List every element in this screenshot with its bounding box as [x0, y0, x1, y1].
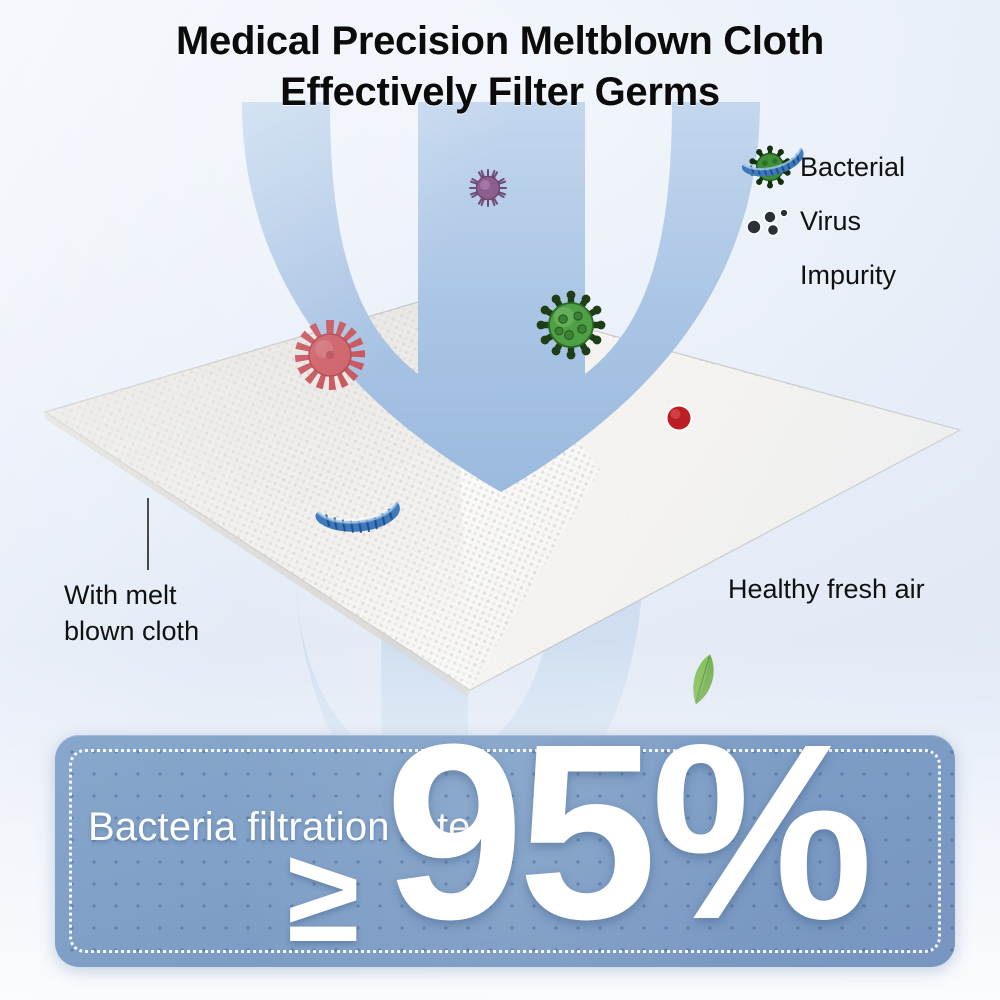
- legend-item-impurity: Impurity: [740, 248, 990, 302]
- legend-blue-bacillus-sample: [728, 132, 818, 188]
- caption-left-line-2: blown cloth: [64, 614, 199, 650]
- germ-red-dot: [666, 405, 693, 432]
- filtration-rate-banner: Bacteria filtration rate ≥ 95%: [55, 735, 955, 967]
- title-line-1: Medical Precision Meltblown Cloth: [176, 19, 824, 63]
- caption-left-line-1: With melt: [64, 578, 199, 614]
- greater-equal-symbol: ≥: [287, 830, 359, 962]
- infographic-canvas: Medical Precision Meltblown Cloth Effect…: [0, 0, 1000, 1000]
- page-title: Medical Precision Meltblown Cloth Effect…: [0, 16, 1000, 118]
- caption-healthy-fresh-air: Healthy fresh air: [728, 572, 925, 608]
- legend-item-virus: Virus: [740, 194, 990, 248]
- title-line-2: Effectively Filter Germs: [0, 67, 1000, 118]
- filtration-rate-value: 95%: [385, 735, 867, 957]
- germ-red-virus: [295, 320, 365, 390]
- blue-bacillus-icon: [740, 253, 800, 297]
- legend-label-impurity: Impurity: [800, 260, 896, 291]
- dark-dots-icon: [740, 199, 800, 243]
- green-leaf-icon: [687, 652, 720, 707]
- banner-content: Bacteria filtration rate ≥ 95%: [55, 735, 955, 967]
- legend-label-virus: Virus: [800, 206, 861, 237]
- caption-melt-blown-cloth: With melt blown cloth: [64, 578, 199, 649]
